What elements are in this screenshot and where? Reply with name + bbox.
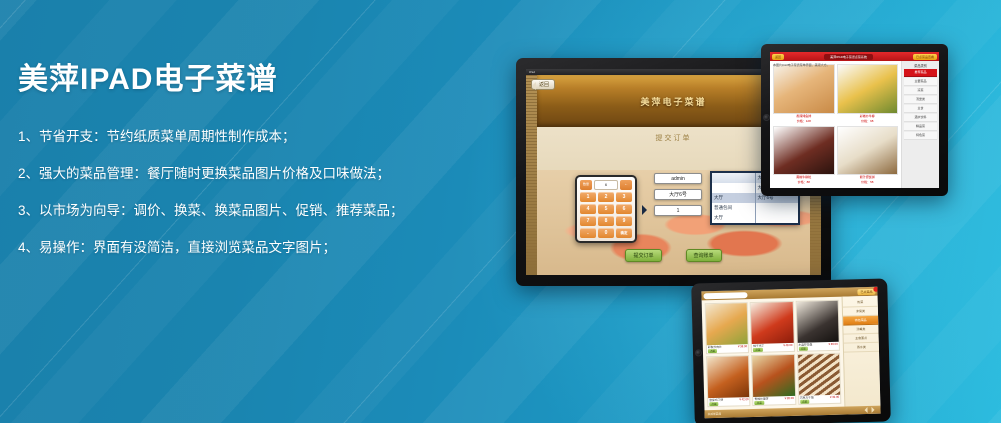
category-sidebar: 热菜 凉菜类 特色菜品 汤羹类 主食面点 酒水类 xyxy=(842,296,881,407)
ipad-bottom-right-device: iPad 9:56 已点菜品 彩椒炒肉片 xyxy=(691,278,891,423)
menu-card-row: 点菜 xyxy=(798,346,839,351)
item-count-label: 共6种菜品 xyxy=(708,412,722,416)
pointer-arrow-icon xyxy=(642,205,652,215)
app-title: 美萍IPAD电子菜谱点菜系统 xyxy=(824,54,873,60)
menu-card-image xyxy=(796,301,838,343)
dish-grid: 香辣烤鱼排 价格：128 彩椒炒牛柳 价格：68 黑椒牛柳粒 价格：88 xyxy=(770,61,901,188)
menu-card-image xyxy=(751,302,793,344)
back-button[interactable]: 返回 xyxy=(772,54,784,60)
user-field[interactable]: admin xyxy=(654,173,702,184)
menu-card-row: 点菜 xyxy=(707,348,748,353)
keypad-key-6[interactable]: 6 xyxy=(616,204,632,214)
category-item-soup[interactable]: 汤羹类 xyxy=(904,96,937,104)
cart-badge xyxy=(873,287,878,292)
table-cell-area xyxy=(712,173,756,183)
dish-price: 价格：58 xyxy=(837,180,899,185)
submit-order-button[interactable]: 提交订单 xyxy=(625,249,661,262)
add-to-cart-button[interactable]: 点菜 xyxy=(800,400,809,404)
keypad-key-1[interactable]: 1 xyxy=(580,192,596,202)
dish-price: 价格：68 xyxy=(837,119,899,124)
category-item-cold[interactable]: 凉菜 xyxy=(904,87,937,95)
page-title: 美萍IPAD电子菜谱 xyxy=(18,62,488,98)
dish-image xyxy=(773,126,835,176)
add-to-cart-button[interactable]: 点菜 xyxy=(755,401,764,405)
menu-card-image xyxy=(706,303,748,345)
prev-page-icon[interactable] xyxy=(861,407,867,413)
keypad-grid: 1 2 3 4 5 6 7 8 9 . 0 确定 xyxy=(580,192,632,238)
table-cell-area xyxy=(712,183,756,193)
table-cell-table xyxy=(756,213,799,223)
table-field[interactable]: 大厅6号 xyxy=(654,189,702,200)
category-item-main[interactable]: 主要菜品 xyxy=(904,78,937,86)
table-cell-area: 大厅 xyxy=(712,193,756,203)
table-row[interactable]: 普通包间 xyxy=(712,203,798,213)
keypad-label: 数量 xyxy=(580,180,592,190)
keypad-key-8[interactable]: 8 xyxy=(598,216,614,226)
add-to-cart-button[interactable]: 点菜 xyxy=(708,349,717,353)
feature-bullet-1: 1、节省开支：节约纸质菜单周期性制作成本； xyxy=(18,130,488,145)
menu-card-image xyxy=(752,355,794,397)
menu-grid-body: 彩椒炒肉片 ￥38.00 点菜 辣子鸡丁 ￥48.00 xyxy=(702,296,881,411)
backspace-icon[interactable]: ← xyxy=(620,180,632,190)
menu-card[interactable]: 巧克力千层 ￥32.00 点菜 xyxy=(797,353,842,405)
add-to-cart-button[interactable]: 点菜 xyxy=(799,347,808,351)
category-item-premium[interactable]: 精品菜 xyxy=(904,123,937,131)
dish-image xyxy=(837,126,899,176)
view-ordered-button[interactable]: 已点菜品查看 xyxy=(913,54,937,60)
action-buttons: 提交订单 查询账单 xyxy=(526,249,821,262)
dish-card[interactable]: 鲍汁捞饭拼 价格：58 xyxy=(837,126,899,186)
feature-bullet-3: 3、以市场为向导：调价、换菜、换菜品图片、促销、推荐菜品； xyxy=(18,204,488,219)
count-field[interactable]: 1 xyxy=(654,205,702,216)
feature-bullet-4: 4、易操作：界面有没简洁，直接浏览菜品文字图片； xyxy=(18,241,488,256)
query-bill-button[interactable]: 查询账单 xyxy=(686,249,722,262)
category-item-recommended[interactable]: 推荐菜品 xyxy=(904,69,937,77)
dish-image xyxy=(773,64,835,114)
dish-body: 香辣烤鱼排 价格：128 彩椒炒牛柳 价格：68 黑椒牛柳粒 价格：88 xyxy=(770,61,939,188)
cart-button[interactable]: 已点菜品 xyxy=(857,288,875,294)
keypad-key-9[interactable]: 9 xyxy=(616,216,632,226)
table-row[interactable]: 大厅 xyxy=(712,213,798,223)
menu-card-image xyxy=(798,354,840,396)
table-cell-table xyxy=(756,203,799,213)
menu-grid-app: 已点菜品 彩椒炒肉片 ￥38.00 点菜 xyxy=(701,287,880,419)
menu-card[interactable]: 水晶虾饺皇 ￥36.00 点菜 xyxy=(795,300,840,352)
dish-browser-app: 返回 美萍IPAD电子菜谱点菜系统 已点菜品查看 香辣烤鱼排 价格：128 彩椒 xyxy=(770,52,939,188)
category-sidebar: 菜品类别 推荐菜品 主要菜品 凉菜 汤羹类 主食 酒水饮料 精品菜 特色菜 xyxy=(901,61,939,188)
home-button[interactable] xyxy=(763,114,770,121)
menu-card-row: 点菜 xyxy=(799,399,840,404)
dish-price: 价格：88 xyxy=(773,180,835,185)
ipad-top-right-screen[interactable]: iPad 9:56 返回 美萍IPAD电子菜谱点菜系统 已点菜品查看 香辣烤鱼排… xyxy=(770,52,939,188)
back-button[interactable]: 返回 xyxy=(531,79,555,90)
table-cell-area: 普通包间 xyxy=(712,203,756,213)
dish-card[interactable]: 黑椒牛柳粒 价格：88 xyxy=(773,126,835,186)
dish-price: 价格：128 xyxy=(773,119,835,124)
next-page-icon[interactable] xyxy=(871,407,877,413)
keypad-display[interactable]: 6 xyxy=(594,180,618,190)
menu-card-image xyxy=(707,356,749,398)
menu-grid: 彩椒炒肉片 ￥38.00 点菜 辣子鸡丁 ￥48.00 xyxy=(702,297,845,411)
menu-card[interactable]: 宫保鸡丁煲 ￥42.00 点菜 xyxy=(706,355,751,407)
dish-card[interactable]: 彩椒炒牛柳 价格：68 xyxy=(837,64,899,124)
menu-card-row: 点菜 xyxy=(754,400,795,405)
keypad-key-confirm[interactable]: 确定 xyxy=(616,228,632,238)
menu-card-row: 点菜 xyxy=(752,347,793,352)
keypad-key-4[interactable]: 4 xyxy=(580,204,596,214)
menu-card[interactable]: 辣子鸡丁 ￥48.00 点菜 xyxy=(750,301,795,353)
menu-card-row: 点菜 xyxy=(708,401,749,406)
keypad-key-3[interactable]: 3 xyxy=(616,192,632,202)
keypad-key-2[interactable]: 2 xyxy=(598,192,614,202)
table-cell-area: 大厅 xyxy=(712,213,756,223)
category-item-special[interactable]: 特色菜 xyxy=(904,132,937,140)
ipad-top-right-device: iPad 9:56 返回 美萍IPAD电子菜谱点菜系统 已点菜品查看 香辣烤鱼排… xyxy=(761,44,948,196)
marketing-copy: 美萍IPAD电子菜谱 1、节省开支：节约纸质菜单周期性制作成本； 2、强大的菜品… xyxy=(18,62,488,255)
home-button[interactable] xyxy=(695,349,702,356)
add-to-cart-button[interactable]: 点菜 xyxy=(709,402,718,406)
category-item-staple[interactable]: 主食 xyxy=(904,105,937,113)
pager xyxy=(861,407,877,413)
header-note: 本图片ipad电子菜谱菜单界面，美观大方。 xyxy=(773,63,830,67)
dish-image xyxy=(837,64,899,114)
category-item-drinks[interactable]: 酒水饮料 xyxy=(904,114,937,122)
keypad-key-dot[interactable]: . xyxy=(580,228,596,238)
keypad-key-0[interactable]: 0 xyxy=(598,228,614,238)
keypad-display-row: 数量 6 ← xyxy=(580,180,632,190)
category-item-drinks[interactable]: 酒水类 xyxy=(844,343,879,353)
dish-card[interactable]: 香辣烤鱼排 价格：128 xyxy=(773,64,835,124)
menu-card[interactable]: 青椒炒蛋饼 ￥28.00 点菜 xyxy=(751,354,796,406)
keypad-key-5[interactable]: 5 xyxy=(598,204,614,214)
promo-banner: 美萍IPAD电子菜谱 1、节省开支：节约纸质菜单周期性制作成本； 2、强大的菜品… xyxy=(0,0,1001,423)
cart-label: 已点菜品 xyxy=(860,289,872,293)
feature-bullet-2: 2、强大的菜品管理：餐厅随时更换菜品图片价格及口味做法； xyxy=(18,167,488,182)
status-carrier: iPad xyxy=(529,70,535,74)
menu-card[interactable]: 彩椒炒肉片 ￥38.00 点菜 xyxy=(705,302,750,354)
ipad-bottom-right-screen[interactable]: iPad 9:56 已点菜品 彩椒炒肉片 xyxy=(701,287,880,419)
app-header-bar: 返回 美萍IPAD电子菜谱点菜系统 已点菜品查看 xyxy=(770,52,939,61)
numeric-keypad[interactable]: 数量 6 ← 1 2 3 4 5 6 7 8 xyxy=(575,175,637,243)
keypad-key-7[interactable]: 7 xyxy=(580,216,596,226)
search-input[interactable] xyxy=(703,292,747,299)
add-to-cart-button[interactable]: 点菜 xyxy=(753,348,762,352)
form-fields: admin 大厅6号 1 xyxy=(654,173,702,221)
